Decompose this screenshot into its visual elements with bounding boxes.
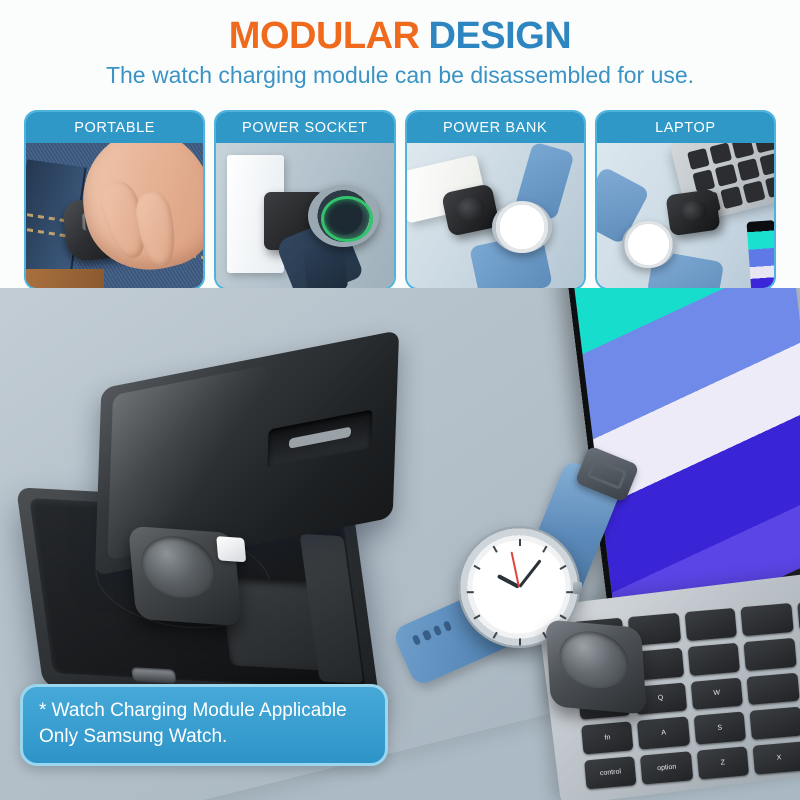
feature-card-power-bank: POWER BANK (405, 110, 586, 290)
feature-card-label: PORTABLE (26, 112, 203, 143)
panel-usb-slot (267, 410, 373, 468)
keyboard-key (744, 638, 797, 671)
watch-icon (622, 221, 675, 267)
portable-photo (26, 143, 203, 288)
keyboard-key: control (584, 756, 637, 789)
watch-crown-icon (573, 582, 583, 594)
laptop-photo (597, 143, 774, 288)
feature-card-row: PORTABLE POWER SOCKET (24, 110, 776, 290)
keyboard-key: option (640, 751, 693, 784)
feature-card-label: POWER BANK (407, 112, 584, 143)
feature-card-portable: PORTABLE (24, 110, 205, 290)
watch-charging-module (128, 526, 242, 626)
page-title-design: DESIGN (429, 15, 572, 57)
feature-card-laptop: LAPTOP (595, 110, 776, 290)
page-title-modular: MODULAR (229, 15, 420, 57)
usb-c-port-icon (131, 668, 177, 684)
keyboard-key (747, 672, 800, 705)
feature-card-power-socket: POWER SOCKET (214, 110, 395, 290)
infographic-canvas: MODULARDESIGN The watch charging module … (0, 0, 800, 800)
keyboard-key: S (694, 712, 747, 745)
detached-charging-module (545, 619, 647, 714)
page-subtitle: The watch charging module can be disasse… (0, 60, 800, 90)
charging-dock (10, 348, 440, 728)
keyboard-key (684, 608, 737, 641)
charging-module-icon (665, 189, 720, 236)
feature-card-label: POWER SOCKET (216, 112, 393, 143)
usb-plug-icon (216, 536, 246, 562)
keyboard-key (741, 603, 794, 636)
page-title: MODULARDESIGN (0, 14, 800, 58)
keyboard-key: Z (697, 747, 750, 780)
power-bank-photo (407, 143, 584, 288)
power-socket-photo (216, 143, 393, 288)
keyboard-key (687, 643, 740, 676)
keyboard-key (750, 707, 800, 740)
keyboard-key: W (690, 677, 743, 710)
watch-icon (492, 201, 552, 253)
footnote-disclaimer: * Watch Charging Module Applicable Only … (20, 684, 388, 766)
keyboard-key: X (753, 742, 800, 775)
feature-card-label: LAPTOP (597, 112, 774, 143)
